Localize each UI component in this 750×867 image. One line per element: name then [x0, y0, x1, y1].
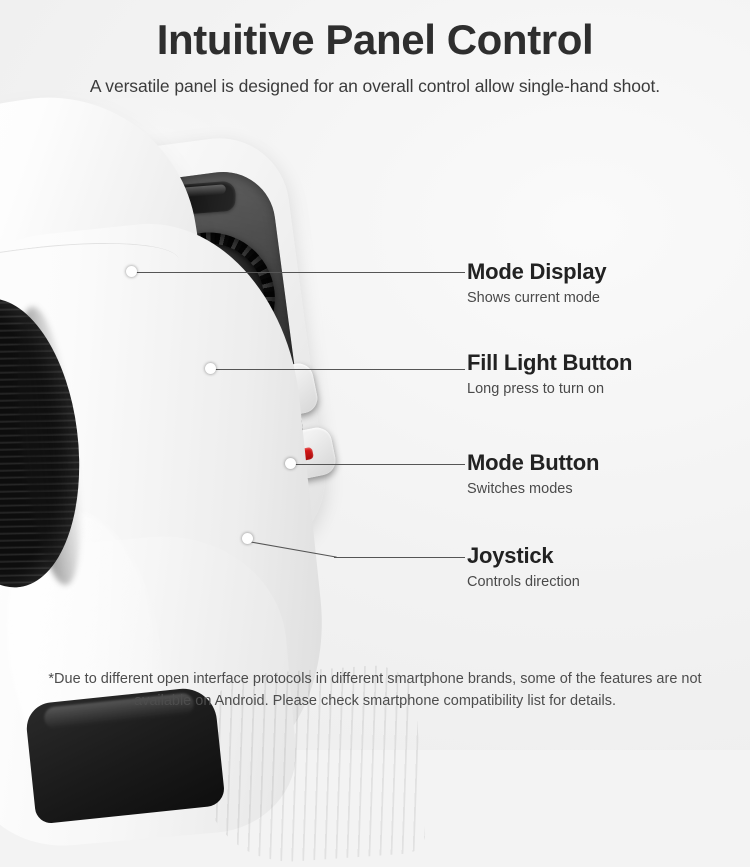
callout-leader-joystick: [334, 557, 465, 558]
callout-dot-joystick: [242, 533, 253, 544]
callout-annotations: Mode Display Shows current mode Fill Lig…: [0, 0, 750, 750]
callout-dot-mode-display: [126, 266, 137, 277]
footer-disclaimer: *Due to different open interface protoco…: [22, 668, 728, 713]
footer: *Due to different open interface protoco…: [0, 668, 750, 713]
callout-joystick: Joystick Controls direction: [467, 543, 580, 590]
callout-leader-joystick-angled: [248, 541, 337, 558]
callout-desc: Controls direction: [467, 574, 580, 590]
callout-leader-fill-light: [211, 369, 465, 370]
callout-leader-mode-button: [291, 464, 465, 465]
callout-desc: Long press to turn on: [467, 381, 632, 397]
callout-desc: Switches modes: [467, 481, 599, 497]
callout-fill-light-button: Fill Light Button Long press to turn on: [467, 350, 632, 397]
page-title: Intuitive Panel Control: [0, 16, 750, 64]
callout-mode-button: Mode Button Switches modes: [467, 450, 599, 497]
callout-desc: Shows current mode: [467, 290, 606, 306]
callout-title: Mode Display: [467, 259, 606, 285]
callout-dot-fill-light: [205, 363, 216, 374]
callout-mode-display: Mode Display Shows current mode: [467, 259, 606, 306]
callout-title: Fill Light Button: [467, 350, 632, 376]
callout-leader-mode-display: [132, 272, 465, 273]
callout-title: Joystick: [467, 543, 580, 569]
callout-title: Mode Button: [467, 450, 599, 476]
header: Intuitive Panel Control A versatile pane…: [0, 16, 750, 97]
page-subtitle: A versatile panel is designed for an ove…: [0, 76, 750, 97]
callout-dot-mode-button: [285, 458, 296, 469]
